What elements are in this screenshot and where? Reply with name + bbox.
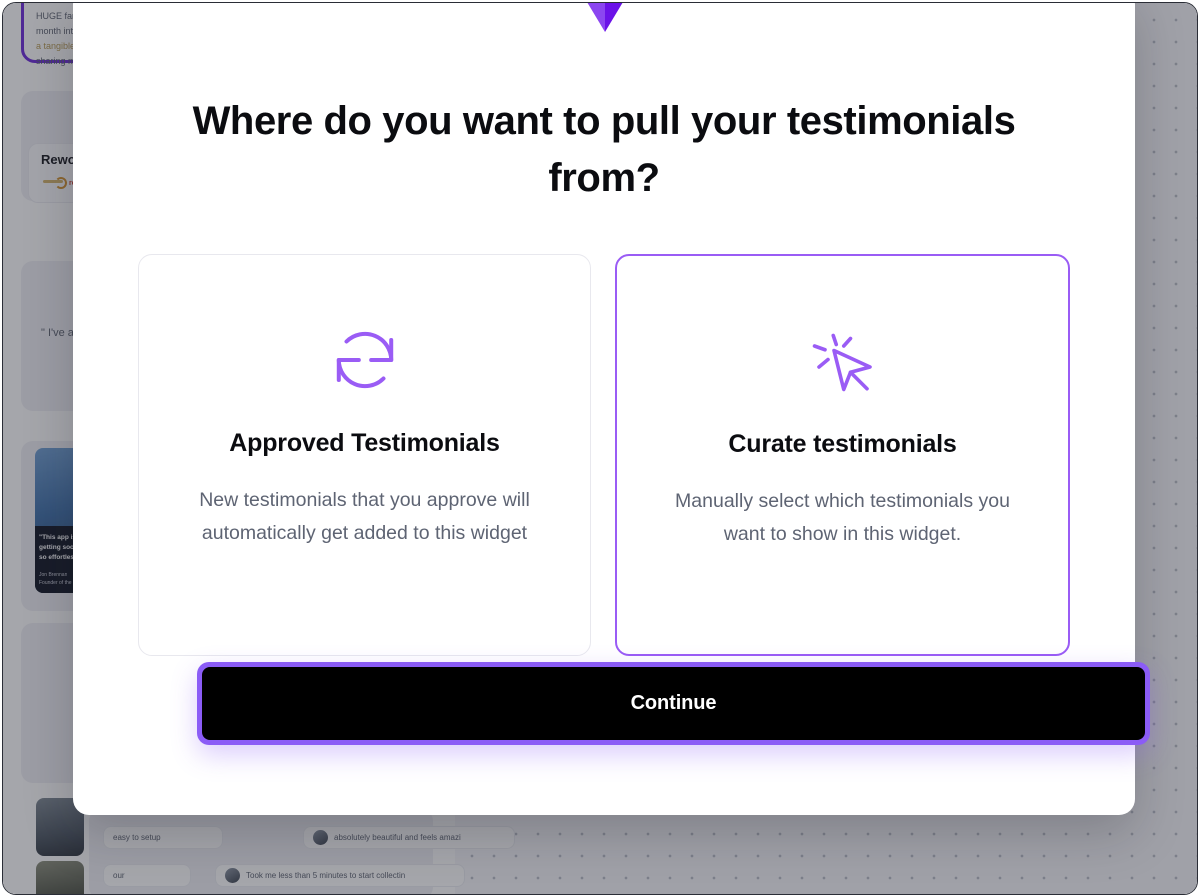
continue-button[interactable]: Continue <box>202 667 1145 740</box>
option-card-curate-testimonials[interactable]: Curate testimonials Manually select whic… <box>615 254 1070 656</box>
option-title: Approved Testimonials <box>229 429 499 458</box>
refresh-sync-icon <box>328 317 402 403</box>
option-title: Curate testimonials <box>728 430 956 459</box>
option-description: Manually select which testimonials you w… <box>653 485 1033 551</box>
page-title: Where do you want to pull your testimoni… <box>73 2 1135 207</box>
cursor-click-icon <box>804 318 882 404</box>
continue-button-focus-ring: Continue <box>197 662 1150 745</box>
source-options-group: Approved Testimonials New testimonials t… <box>73 207 1135 656</box>
option-card-approved-testimonials[interactable]: Approved Testimonials New testimonials t… <box>138 254 591 656</box>
background-page-frame: HUGE fan of month into i a tangible in s… <box>2 2 1198 895</box>
app-root: HUGE fan of month into i a tangible in s… <box>0 0 1200 895</box>
testimonial-source-modal: Where do you want to pull your testimoni… <box>73 2 1135 815</box>
option-description: New testimonials that you approve will a… <box>175 484 555 550</box>
